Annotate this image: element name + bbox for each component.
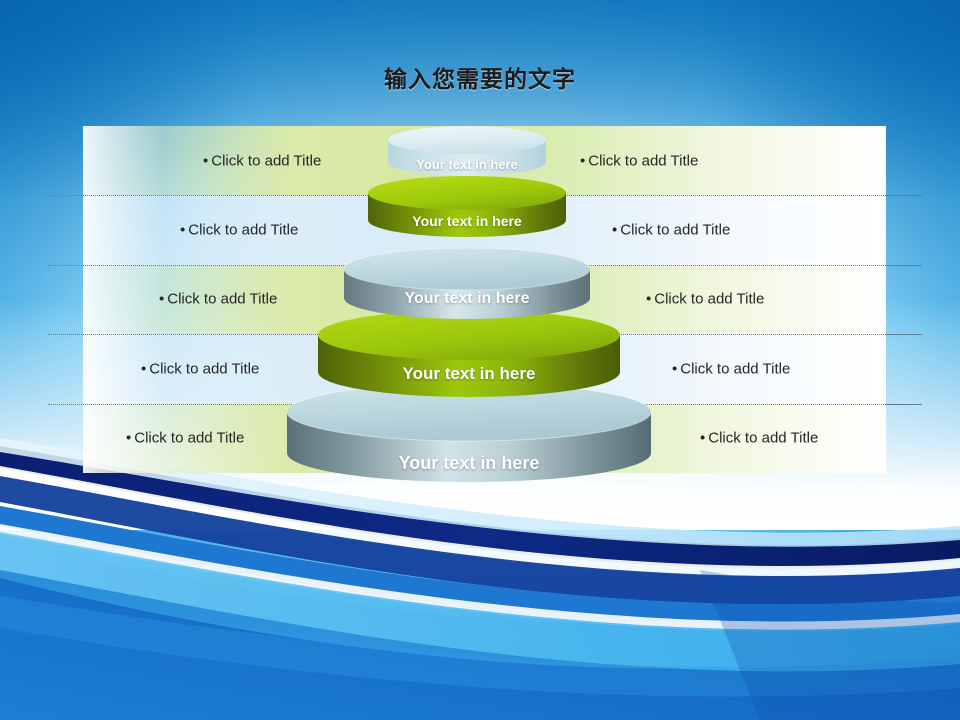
row-divider-extension [886,265,922,266]
bullet-dot-icon: • [203,152,208,169]
row-divider-extension [886,195,922,196]
bullet-right-3-label: Click to add Title [654,291,764,308]
cake-layer-3-label: Your text in here [344,290,590,308]
row-divider-extension [886,334,922,335]
cylinder-shape [368,176,566,245]
bullet-right-1[interactable]: •Click to add Title [580,152,698,169]
bullet-dot-icon: • [612,222,617,239]
bullet-left-2[interactable]: •Click to add Title [180,222,298,239]
cake-layer-2-label: Your text in here [368,213,566,229]
bullet-dot-icon: • [180,222,185,239]
bullet-right-1-label: Click to add Title [588,152,698,169]
bullet-left-4-label: Click to add Title [149,360,259,377]
bullet-right-4-label: Click to add Title [680,360,790,377]
bullet-dot-icon: • [700,430,705,447]
bullet-left-2-label: Click to add Title [188,222,298,239]
slide-canvas: 输入您需要的文字 •Click to add Title •Click to a… [0,0,960,720]
cylinder-shape [344,248,590,328]
bullet-right-3[interactable]: •Click to add Title [646,291,764,308]
bullet-dot-icon: • [580,152,585,169]
bullet-left-1[interactable]: •Click to add Title [203,152,321,169]
bullet-right-2[interactable]: •Click to add Title [612,222,730,239]
bullet-right-2-label: Click to add Title [620,222,730,239]
cake-layer-1-top[interactable]: Your text in here [388,126,546,182]
bullet-left-5-label: Click to add Title [134,430,244,447]
cake-layer-5-label: Your text in here [287,453,651,474]
bullet-left-3[interactable]: •Click to add Title [159,291,277,308]
bullet-dot-icon: • [159,291,164,308]
bullet-dot-icon: • [141,360,146,377]
row-divider-extension [886,404,922,405]
bullet-dot-icon: • [646,291,651,308]
cake-layer-4-label: Your text in here [318,364,620,384]
bullet-left-3-label: Click to add Title [167,291,277,308]
cake-layer-2[interactable]: Your text in here [368,176,566,245]
bullet-left-1-label: Click to add Title [211,152,321,169]
bullet-right-4[interactable]: •Click to add Title [672,360,790,377]
slide-title: 输入您需要的文字 [0,60,960,94]
bullet-right-5-label: Click to add Title [708,430,818,447]
bullet-left-4[interactable]: •Click to add Title [141,360,259,377]
cake-layer-3[interactable]: Your text in here [344,248,590,328]
cake-layer-1-label: Your text in here [388,157,546,172]
bullet-dot-icon: • [672,360,677,377]
bullet-dot-icon: • [126,430,131,447]
bullet-right-5[interactable]: •Click to add Title [700,430,818,447]
bullet-left-5[interactable]: •Click to add Title [126,430,244,447]
cylinder-shape [388,126,546,182]
